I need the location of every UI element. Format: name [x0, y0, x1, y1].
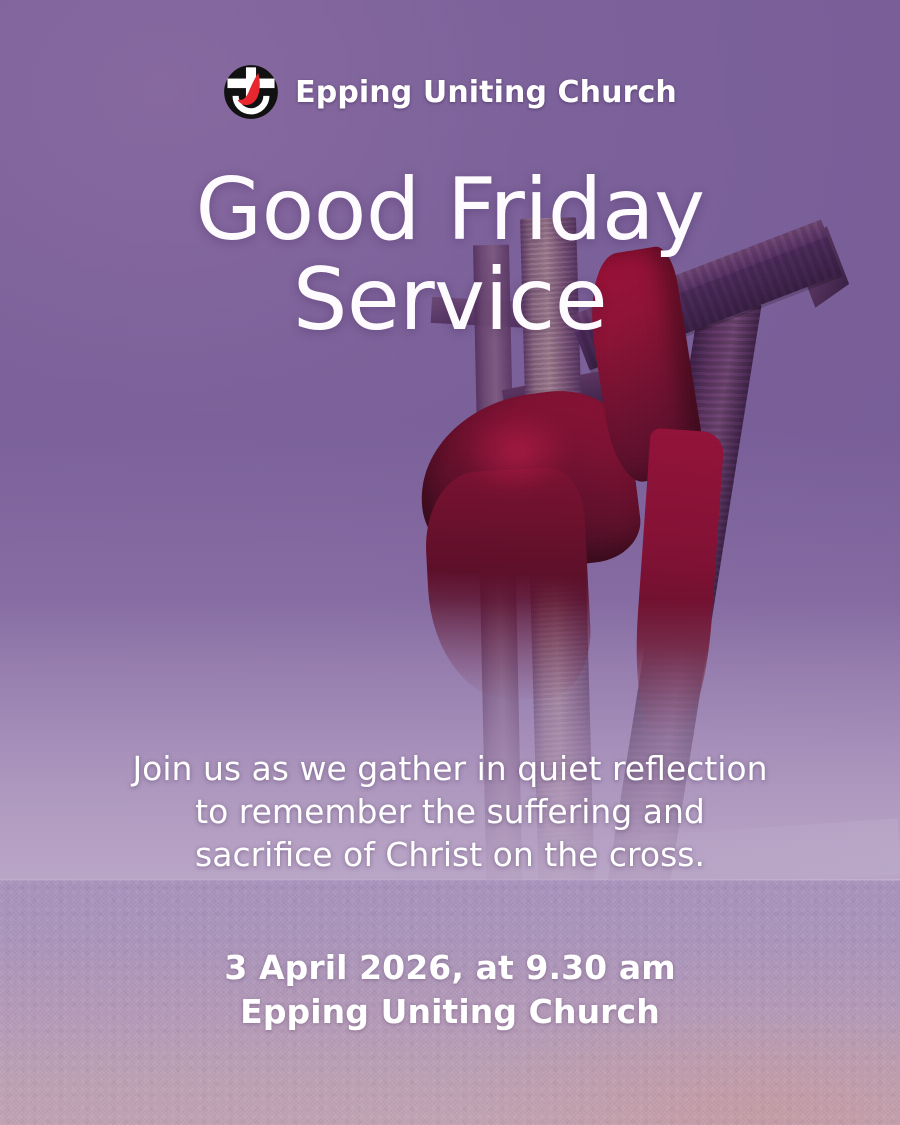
poster-content: Epping Uniting Church Good Friday Servic… [0, 0, 900, 1125]
headline-line-2: Service [0, 255, 900, 345]
event-venue: Epping Uniting Church [0, 990, 900, 1034]
event-datetime: 3 April 2026, at 9.30 am [0, 946, 900, 990]
page-title: Good Friday Service [0, 165, 900, 346]
description-line-1: Join us as we gather in quiet reflection [60, 748, 840, 791]
description-line-3: sacrifice of Christ on the cross. [60, 834, 840, 877]
uniting-church-logo-icon [223, 64, 279, 120]
description-line-2: to remember the suffering and [60, 791, 840, 834]
brand-lockup: Epping Uniting Church [0, 64, 900, 120]
good-friday-service-poster: Epping Uniting Church Good Friday Servic… [0, 0, 900, 1125]
description-text: Join us as we gather in quiet reflection… [60, 748, 840, 877]
event-details: 3 April 2026, at 9.30 am Epping Uniting … [0, 946, 900, 1033]
brand-name: Epping Uniting Church [295, 75, 677, 110]
headline-line-1: Good Friday [196, 160, 705, 260]
